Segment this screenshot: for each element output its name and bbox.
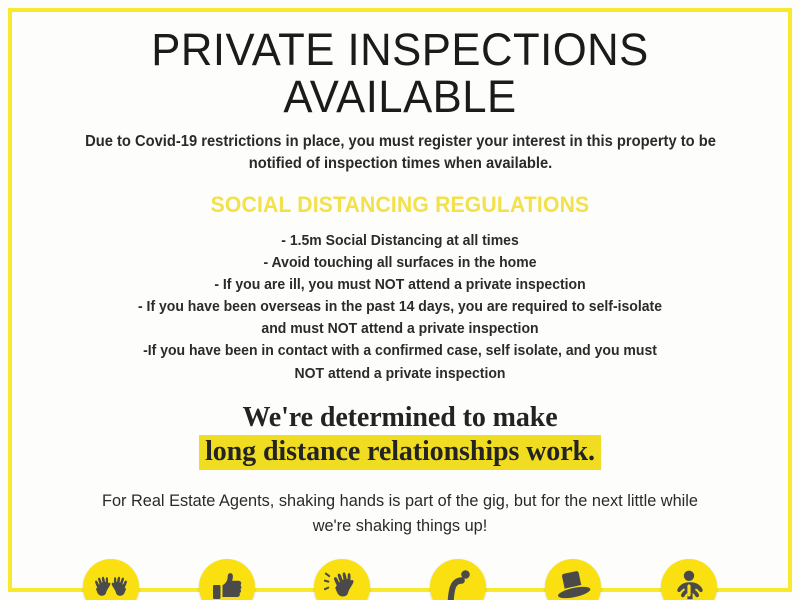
greeting-item-jazz-hands: Jazz hands <box>55 559 167 600</box>
rule-line: NOT attend a private inspection <box>83 363 717 385</box>
top-hat-icon <box>545 559 601 600</box>
covid-notice-subtitle: Due to Covid-19 restrictions in place, y… <box>84 131 716 175</box>
thumbs-up-icon <box>199 559 255 600</box>
social-distancing-heading: SOCIAL DISTANCING REGULATIONS <box>49 192 752 218</box>
poster-content: PRIVATE INSPECTIONS AVAILABLE Due to Cov… <box>0 0 800 600</box>
tagline-line-1: We're determined to make <box>34 402 766 433</box>
greeting-item-bowing: Bowing <box>402 559 514 600</box>
greeting-item-thumbs-up: Thumbs up <box>171 559 283 600</box>
tagline-line-2-wrapper: long distance relationships work. <box>34 435 766 470</box>
rule-line: - 1.5m Social Distancing at all times <box>83 230 717 252</box>
greeting-item-tip-of-the-hat: Tip of the hat <box>517 559 629 600</box>
greeting-item-waving: Waving <box>286 559 398 600</box>
greeting-item-namaste: Namaste <box>633 559 745 600</box>
jazz-hands-icon <box>83 559 139 600</box>
tagline-line-2-highlighted: long distance relationships work. <box>199 435 601 470</box>
tagline: We're determined to make long distance r… <box>34 402 766 471</box>
rule-line: and must NOT attend a private inspection <box>83 318 717 340</box>
social-distancing-rules-list: - 1.5m Social Distancing at all times - … <box>70 230 730 385</box>
rule-line: - If you are ill, you must NOT attend a … <box>83 274 717 296</box>
rule-line: -If you have been in contact with a conf… <box>83 340 717 362</box>
rule-line: - Avoid touching all surfaces in the hom… <box>83 252 717 274</box>
waving-hand-icon <box>314 559 370 600</box>
page-title: PRIVATE INSPECTIONS AVAILABLE <box>45 26 755 121</box>
rule-line: - If you have been overseas in the past … <box>83 296 717 318</box>
namaste-icon <box>661 559 717 600</box>
private-inspections-poster: PRIVATE INSPECTIONS AVAILABLE Due to Cov… <box>0 0 800 600</box>
closing-paragraph: For Real Estate Agents, shaking hands is… <box>93 489 707 538</box>
bowing-person-icon <box>430 559 486 600</box>
greeting-icons-row: Jazz hands Thumbs up <box>51 559 749 600</box>
